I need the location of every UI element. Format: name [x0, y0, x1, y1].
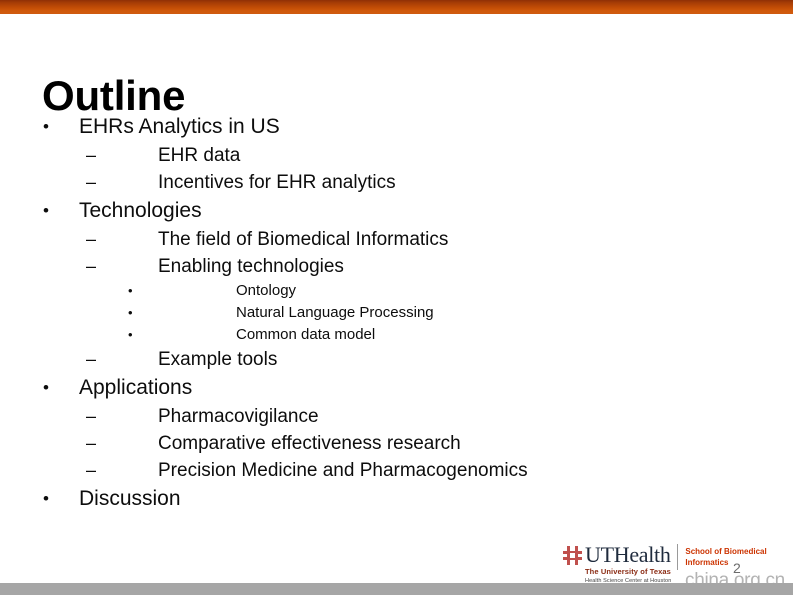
outline-item-level-1: •Discussion [40, 484, 740, 514]
outline-item-label: Ontology [234, 280, 296, 302]
outline-list: •EHRs Analytics in US–EHR data–Incentive… [40, 112, 740, 514]
top-accent-band [0, 0, 793, 14]
outline-item-label: The field of Biomedical Informatics [156, 226, 448, 253]
outline-item-level-1: •Technologies [40, 196, 740, 226]
outline-item-level-2: –EHR data [40, 142, 740, 169]
logo-divider [677, 544, 678, 570]
uthealth-wordmark: UTHealth The University of Texas Health … [585, 544, 671, 585]
outline-item-level-3: •Common data model [40, 324, 740, 346]
outline-item-label: Pharmacovigilance [156, 403, 319, 430]
outline-item-label: Incentives for EHR analytics [156, 169, 396, 196]
outline-item-label: Discussion [77, 484, 181, 514]
bullet-marker-icon: – [40, 226, 156, 253]
presentation-slide: Outline •EHRs Analytics in US–EHR data–I… [0, 0, 793, 595]
bullet-marker-icon: – [40, 346, 156, 373]
uthealth-subtitle-line1: The University of Texas [585, 567, 671, 577]
outline-item-level-2: –Pharmacovigilance [40, 403, 740, 430]
outline-item-level-2: –Enabling technologies [40, 253, 740, 280]
outline-item-label: Comparative effectiveness research [156, 430, 461, 457]
bullet-marker-icon: • [40, 373, 77, 403]
bullet-marker-icon: • [40, 484, 77, 514]
school-name: School of Biomedical Informatics [685, 544, 771, 568]
uthealth-name: UTHealth [585, 544, 671, 565]
bullet-marker-icon: – [40, 457, 156, 484]
outline-item-label: EHR data [156, 142, 240, 169]
outline-item-label: Applications [77, 373, 192, 403]
bullet-marker-icon: – [40, 142, 156, 169]
outline-item-level-3: •Natural Language Processing [40, 302, 740, 324]
bullet-marker-icon: • [40, 112, 77, 142]
outline-item-label: Enabling technologies [156, 253, 344, 280]
outline-item-level-2: –Incentives for EHR analytics [40, 169, 740, 196]
bullet-marker-icon: • [40, 302, 234, 324]
bullet-marker-icon: – [40, 403, 156, 430]
bottom-gray-band [0, 583, 793, 595]
uthealth-logo: UTHealth The University of Texas Health … [563, 544, 671, 585]
outline-item-label: Technologies [77, 196, 202, 226]
bullet-marker-icon: • [40, 280, 234, 302]
outline-item-label: Precision Medicine and Pharmacogenomics [156, 457, 528, 484]
bullet-marker-icon: – [40, 169, 156, 196]
bullet-marker-icon: • [40, 196, 77, 226]
outline-item-level-1: •Applications [40, 373, 740, 403]
outline-item-label: Natural Language Processing [234, 302, 434, 324]
outline-item-label: Common data model [234, 324, 375, 346]
bullet-marker-icon: – [40, 253, 156, 280]
outline-item-level-3: •Ontology [40, 280, 740, 302]
outline-item-level-2: –Example tools [40, 346, 740, 373]
uthealth-weave-icon [563, 546, 582, 565]
outline-item-level-2: –Comparative effectiveness research [40, 430, 740, 457]
outline-item-level-2: –The field of Biomedical Informatics [40, 226, 740, 253]
outline-item-label: Example tools [156, 346, 277, 373]
bullet-marker-icon: • [40, 324, 234, 346]
outline-item-label: EHRs Analytics in US [77, 112, 280, 142]
outline-item-level-2: –Precision Medicine and Pharmacogenomics [40, 457, 740, 484]
bullet-marker-icon: – [40, 430, 156, 457]
outline-item-level-1: •EHRs Analytics in US [40, 112, 740, 142]
